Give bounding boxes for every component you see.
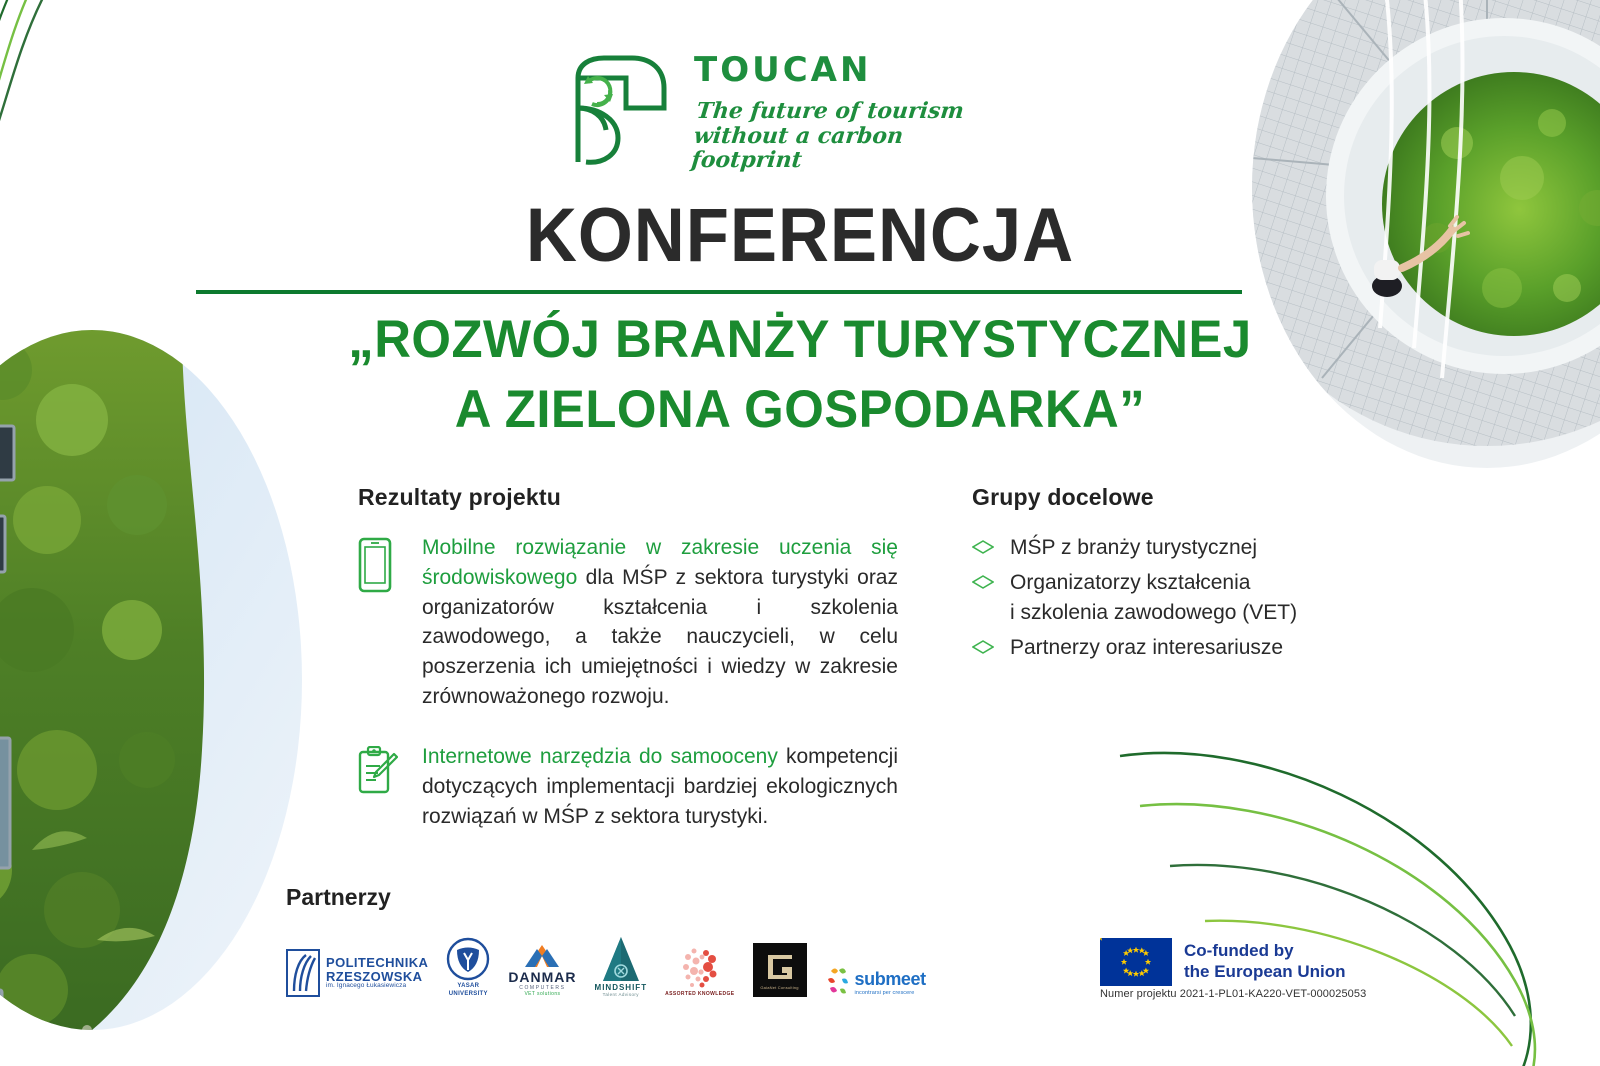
partner-line-3: im. Ignacego Łukasiewicza: [326, 983, 428, 990]
result-item: Internetowe narzędzia do samooceny kompe…: [358, 742, 898, 831]
target-group-label: Organizatorzy kształcenia i szkolenia za…: [1010, 568, 1297, 629]
partner-line-1: submeet: [855, 969, 926, 990]
submeet-logo: submeet incontrarsi per crescere: [825, 967, 926, 997]
title-divider: [196, 290, 1242, 294]
result-item: Mobilne rozwiązanie w zakresie uczenia s…: [358, 533, 898, 712]
partner-line-1: YASAR: [457, 983, 479, 989]
list-item: MŚP z branży turystycznej: [972, 533, 1312, 564]
partners-heading: Partnerzy: [286, 884, 391, 911]
results-section: Rezultaty projektu Mobilne rozwiązanie w…: [358, 484, 898, 861]
funding-line-2: the European Union: [1184, 962, 1346, 983]
list-item: Organizatorzy kształcenia i szkolenia za…: [972, 568, 1312, 629]
submeet-mark-icon: [825, 967, 851, 997]
partner-line-2: Talent Advisory: [603, 992, 639, 997]
tagline-line-1: The future of tourism: [695, 98, 965, 124]
mobile-phone-icon: [358, 533, 404, 712]
diamond-bullet-icon: [972, 568, 998, 594]
target-group-label: Partnerzy oraz interesariusze: [1010, 633, 1283, 664]
funding-line-1: Co-funded by: [1184, 941, 1346, 962]
partner-line-2: UNIVERSITY: [449, 991, 488, 997]
poster-canvas: TOUCAN The future of tourism without a c…: [0, 0, 1600, 1066]
page-title-kicker: KONFERENCJA: [56, 192, 1544, 279]
results-heading: Rezultaty projektu: [358, 484, 898, 511]
assorted-knowledge-mark-icon: [672, 941, 728, 991]
partner-line-3: VET solutions: [524, 991, 560, 997]
result-text: Mobilne rozwiązanie w zakresie uczenia s…: [422, 533, 898, 712]
subtitle-line-1: „ROZWÓJ BRANŻY TURYSTYCZNEJ: [348, 310, 1251, 369]
partner-line-2: incontrarsi per crescere: [855, 990, 926, 996]
brand-logo: TOUCAN The future of tourism without a c…: [548, 42, 968, 178]
diamond-bullet-icon: [972, 633, 998, 659]
yasar-mark-icon: [446, 937, 490, 981]
gaianet-mark-icon: [764, 951, 796, 983]
eu-funding-badge: Co-funded by the European Union: [1100, 938, 1346, 986]
partner-line-1: POLITECHNIKA: [326, 956, 428, 969]
list-item: Partnerzy oraz interesariusze: [972, 633, 1312, 664]
tagline-line-2: without a carbon footprint: [690, 123, 904, 174]
politechnika-rzeszowska-logo: POLITECHNIKA RZESZOWSKA im. Ignacego Łuk…: [286, 949, 428, 997]
subtitle-line-2: A ZIELONA GOSPODARKA”: [455, 380, 1145, 439]
danmar-computers-logo: DANMAR COMPUTERS VET solutions: [508, 943, 576, 997]
result-text: Internetowe narzędzia do samooceny kompe…: [422, 742, 898, 831]
politechnika-mark-icon: [286, 949, 320, 997]
yasar-university-logo: YASAR UNIVERSITY: [446, 937, 490, 997]
toucan-logo-icon: [548, 50, 680, 170]
eu-flag-icon: [1100, 938, 1172, 986]
brand-name: TOUCAN: [694, 53, 968, 87]
target-group-label: MŚP z branży turystycznej: [1010, 533, 1257, 564]
mindshift-logo: MINDSHIFT Talent Advisory: [595, 935, 648, 997]
mindshift-mark-icon: [599, 935, 643, 983]
result-highlight: Internetowe narzędzia do samooceny: [422, 745, 778, 768]
decorative-swoosh-bottom-right: [1110, 696, 1600, 1066]
partner-line-1: MINDSHIFT: [595, 983, 648, 992]
brand-tagline: The future of tourism without a carbon f…: [690, 99, 972, 173]
project-number: Numer projektu 2021-1-PL01-KA220-VET-000…: [1100, 988, 1366, 1000]
diamond-bullet-icon: [972, 533, 998, 559]
partner-line-2: GaiaNet Consulting: [760, 985, 798, 990]
partner-line-2: RZESZOWSKA: [326, 970, 428, 983]
clipboard-pencil-icon: [358, 742, 404, 831]
target-groups-list: MŚP z branży turystycznej Organizatorzy …: [972, 533, 1312, 664]
partner-logos: POLITECHNIKA RZESZOWSKA im. Ignacego Łuk…: [286, 925, 926, 997]
gaianet-logo: GaiaNet Consulting: [753, 943, 807, 997]
danmar-mark-icon: [517, 943, 567, 969]
target-groups-heading: Grupy docelowe: [972, 484, 1312, 511]
target-groups-section: Grupy docelowe MŚP z branży turystycznej…: [972, 484, 1312, 668]
partner-line-1: ASSORTED KNOWLEDGE: [665, 991, 734, 997]
assorted-knowledge-logo: ASSORTED KNOWLEDGE: [665, 941, 734, 997]
page-subtitle: „ROZWÓJ BRANŻY TURYSTYCZNEJ A ZIELONA GO…: [32, 305, 1568, 445]
partner-line-1: DANMAR: [508, 969, 576, 985]
